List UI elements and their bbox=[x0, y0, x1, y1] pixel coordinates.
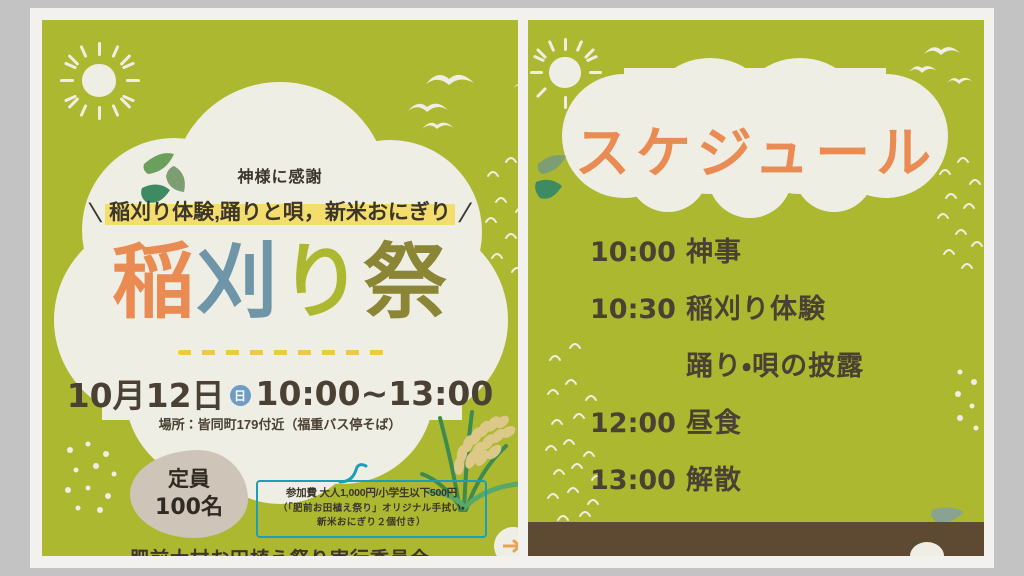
schedule-name: 稲刈り体験 bbox=[686, 287, 826, 326]
schedule-time: 10:00 bbox=[590, 237, 686, 268]
slash-left: \ bbox=[87, 200, 103, 227]
soil-bar bbox=[528, 522, 984, 556]
fee-box: 参加費 大人1,000円/小学生以下500円 （「肥前お田植え祭り」オリジナル手… bbox=[256, 480, 487, 538]
weekday-badge: 日 bbox=[230, 385, 251, 406]
title-char-3: り bbox=[280, 242, 364, 324]
event-time-range: 10:00~13:00 bbox=[256, 374, 494, 413]
bird-icon bbox=[406, 98, 450, 115]
soil-hump bbox=[910, 542, 944, 556]
lead-text: 神様に感謝 bbox=[42, 163, 518, 187]
schedule-name: 神事 bbox=[686, 230, 742, 269]
fee-line-3: 新米おにぎり２個付き） bbox=[262, 516, 481, 531]
fee-line-1: 参加費 大人1,000円/小学生以下500円 bbox=[262, 486, 481, 502]
slide-main-poster[interactable]: 神様に感謝 \ 稲刈り体験,踊りと唄，新米おにぎり / 稲刈り祭 10月12日 … bbox=[42, 20, 518, 556]
tagline-text: 稲刈り体験,踊りと唄，新米おにぎり bbox=[105, 200, 455, 226]
event-date: 10月12日 bbox=[67, 369, 225, 417]
schedule-row: 10:00 神事 bbox=[590, 230, 950, 269]
title-char-1: 稲 bbox=[112, 242, 196, 324]
bird-icon bbox=[946, 74, 974, 86]
organizer-text: 肥前大村お田植え祭り実行委員会 bbox=[42, 544, 518, 556]
bird-icon bbox=[424, 68, 476, 88]
schedule-time: 13:00 bbox=[590, 465, 686, 496]
tagline-row: \ 稲刈り体験,踊りと唄，新米おにぎり / bbox=[42, 200, 518, 227]
dot-pattern bbox=[952, 366, 984, 436]
schedule-time: 12:00 bbox=[590, 408, 686, 439]
capacity-value: 100名 bbox=[130, 493, 248, 523]
title-char-2: 刈 bbox=[196, 242, 280, 324]
bird-icon bbox=[420, 118, 456, 132]
title-char-4: 祭 bbox=[364, 242, 448, 324]
poster-title: 稲刈り祭 bbox=[42, 242, 518, 324]
sun-icon bbox=[530, 38, 602, 108]
schedule-name: 解散 bbox=[686, 458, 742, 497]
capacity-blob: 定員 100名 bbox=[130, 450, 248, 538]
capacity-label: 定員 bbox=[168, 467, 210, 491]
arrow-right-icon[interactable] bbox=[494, 527, 518, 556]
schedule-name: 昼食 bbox=[686, 401, 742, 440]
poster-stage: 神様に感謝 \ 稲刈り体験,踊りと唄，新米おにぎり / 稲刈り祭 10月12日 … bbox=[0, 0, 1024, 576]
schedule-list: 10:00 神事 10:30 稲刈り体験 踊り・唄の披露 12:00 昼食 13… bbox=[590, 230, 950, 515]
bird-icon bbox=[512, 80, 518, 91]
schedule-row: 踊り・唄の披露 bbox=[590, 344, 950, 383]
bird-icon bbox=[908, 62, 938, 75]
date-time-line: 10月12日 日 10:00~13:00 bbox=[42, 369, 518, 417]
schedule-row: 10:30 稲刈り体験 bbox=[590, 287, 950, 326]
schedule-title: スケジュール bbox=[528, 108, 984, 188]
slide-schedule[interactable]: スケジュール 10:00 神事 10:30 稲刈り体験 踊り・唄の披露 12:0… bbox=[528, 20, 984, 556]
slash-right: / bbox=[457, 200, 473, 227]
schedule-row: 13:00 解散 bbox=[590, 458, 950, 497]
fee-line-2: （「肥前お田植え祭り」オリジナル手拭い・ bbox=[262, 502, 481, 517]
dashed-divider bbox=[178, 350, 384, 355]
schedule-row: 12:00 昼食 bbox=[590, 401, 950, 440]
bird-icon bbox=[922, 42, 962, 58]
event-place: 場所：皆同町179付近（福重バス停そば） bbox=[42, 414, 518, 433]
schedule-time: 10:30 bbox=[590, 294, 686, 325]
dot-pattern bbox=[62, 440, 132, 520]
sun-icon bbox=[60, 42, 140, 120]
schedule-name: 踊り・唄の披露 bbox=[686, 344, 864, 383]
